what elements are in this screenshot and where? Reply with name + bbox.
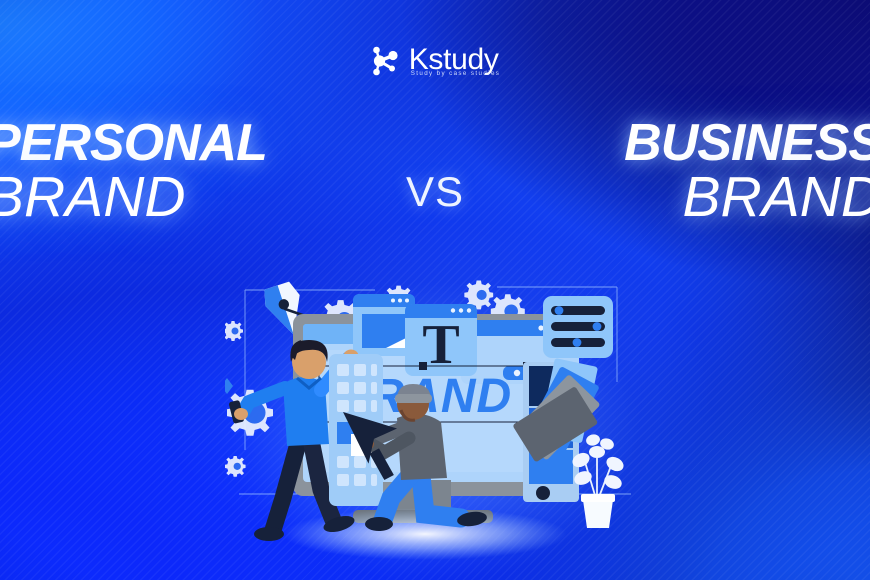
k-node-network-icon: [370, 44, 400, 78]
branding-illustration: T BRAND: [225, 262, 645, 580]
type-tool-glyph: T: [422, 314, 459, 376]
logo-tagline: Study by case studies: [411, 71, 501, 77]
type-card-icon: T: [405, 304, 477, 376]
poster-canvas: Kstudy Study by case studies PERSONAL BR…: [0, 0, 870, 580]
headline-business-brand: BUSINESS BRAND: [624, 118, 870, 226]
logo-text-block: Kstudy Study by case studies: [409, 45, 501, 77]
brand-logo[interactable]: Kstudy Study by case studies: [0, 44, 870, 78]
headline-right-line1: BUSINESS: [624, 118, 870, 168]
headline-right-line2: BRAND: [624, 170, 870, 225]
slider-panel-icon: [543, 296, 613, 358]
headline-left-line1: PERSONAL: [0, 118, 267, 168]
